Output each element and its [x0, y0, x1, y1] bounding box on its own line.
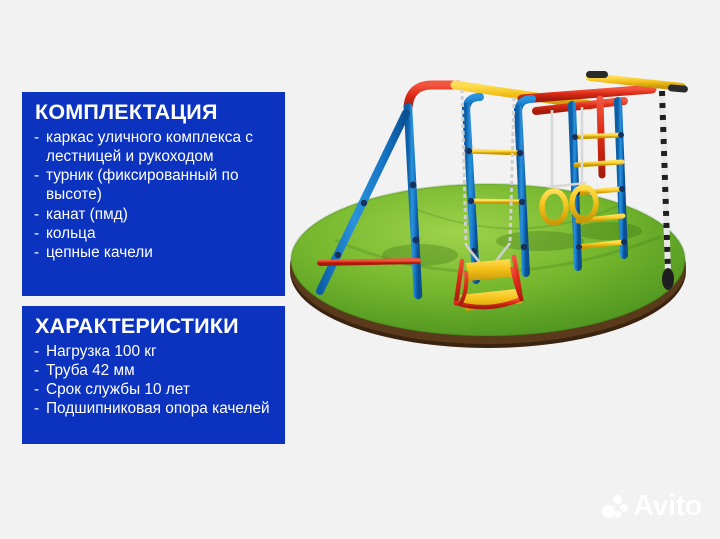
list-item: -кольца [34, 224, 275, 243]
bullet-dash: - [34, 166, 39, 185]
product-photo [290, 55, 710, 425]
bullet-dash: - [34, 128, 39, 147]
list-item: -цепные качели [34, 243, 275, 262]
page-root: КОМПЛЕКТАЦИЯ -каркас уличного комплекса … [0, 0, 720, 539]
list-item-label: Нагрузка 100 кг [46, 343, 157, 360]
list-item: -канат (пмд) [34, 205, 275, 224]
top-beams [408, 71, 688, 111]
bullet-dash: - [34, 205, 39, 224]
specs-list: -Нагрузка 100 кг -Труба 42 мм -Срок служ… [34, 342, 275, 419]
list-item: -Подшипниковая опора качелей [34, 399, 275, 418]
bullet-dash: - [34, 361, 39, 380]
list-item-label: каркас уличного комплекса с лестницей и … [46, 129, 253, 165]
equipment-list: -каркас уличного комплекса с лестницей и… [34, 128, 275, 263]
list-item-label: канат (пмд) [46, 206, 128, 223]
specs-panel: ХАРАКТЕРИСТИКИ -Нагрузка 100 кг -Труба 4… [22, 306, 285, 444]
list-item-label: кольца [46, 225, 96, 242]
list-item-label: Подшипниковая опора качелей [46, 400, 270, 417]
avito-brand-label: Avito [633, 492, 702, 521]
list-item-label: Срок службы 10 лет [46, 381, 190, 398]
equipment-panel: КОМПЛЕКТАЦИЯ -каркас уличного комплекса … [22, 92, 285, 296]
avito-watermark: Avito [602, 492, 702, 521]
bullet-dash: - [34, 243, 39, 262]
list-item-label: цепные качели [46, 244, 153, 261]
avito-dots-logo-icon [602, 494, 628, 520]
equipment-panel-title: КОМПЛЕКТАЦИЯ [35, 101, 275, 124]
red-cross-brace [320, 261, 418, 263]
pullup-grip [586, 71, 608, 78]
red-elbow-beam [408, 85, 458, 107]
bullet-dash: - [34, 399, 39, 418]
list-item: -каркас уличного комплекса с лестницей и… [34, 128, 275, 167]
list-item-label: турник (фиксированный по высоте) [46, 167, 239, 203]
list-item: -Нагрузка 100 кг [34, 342, 275, 361]
bullet-dash: - [34, 224, 39, 243]
specs-panel-title: ХАРАКТЕРИСТИКИ [35, 315, 275, 338]
bullet-dash: - [34, 380, 39, 399]
list-item: -Труба 42 мм [34, 361, 275, 380]
list-item: -Срок службы 10 лет [34, 380, 275, 399]
bullet-dash: - [34, 342, 39, 361]
red-upper-beam [522, 89, 652, 99]
playground-complex-illustration [290, 55, 710, 425]
list-item-label: Труба 42 мм [46, 362, 135, 379]
list-item: -турник (фиксированный по высоте) [34, 166, 275, 205]
rope-end-knot [662, 268, 674, 290]
yellow-rear-rail [590, 77, 682, 87]
